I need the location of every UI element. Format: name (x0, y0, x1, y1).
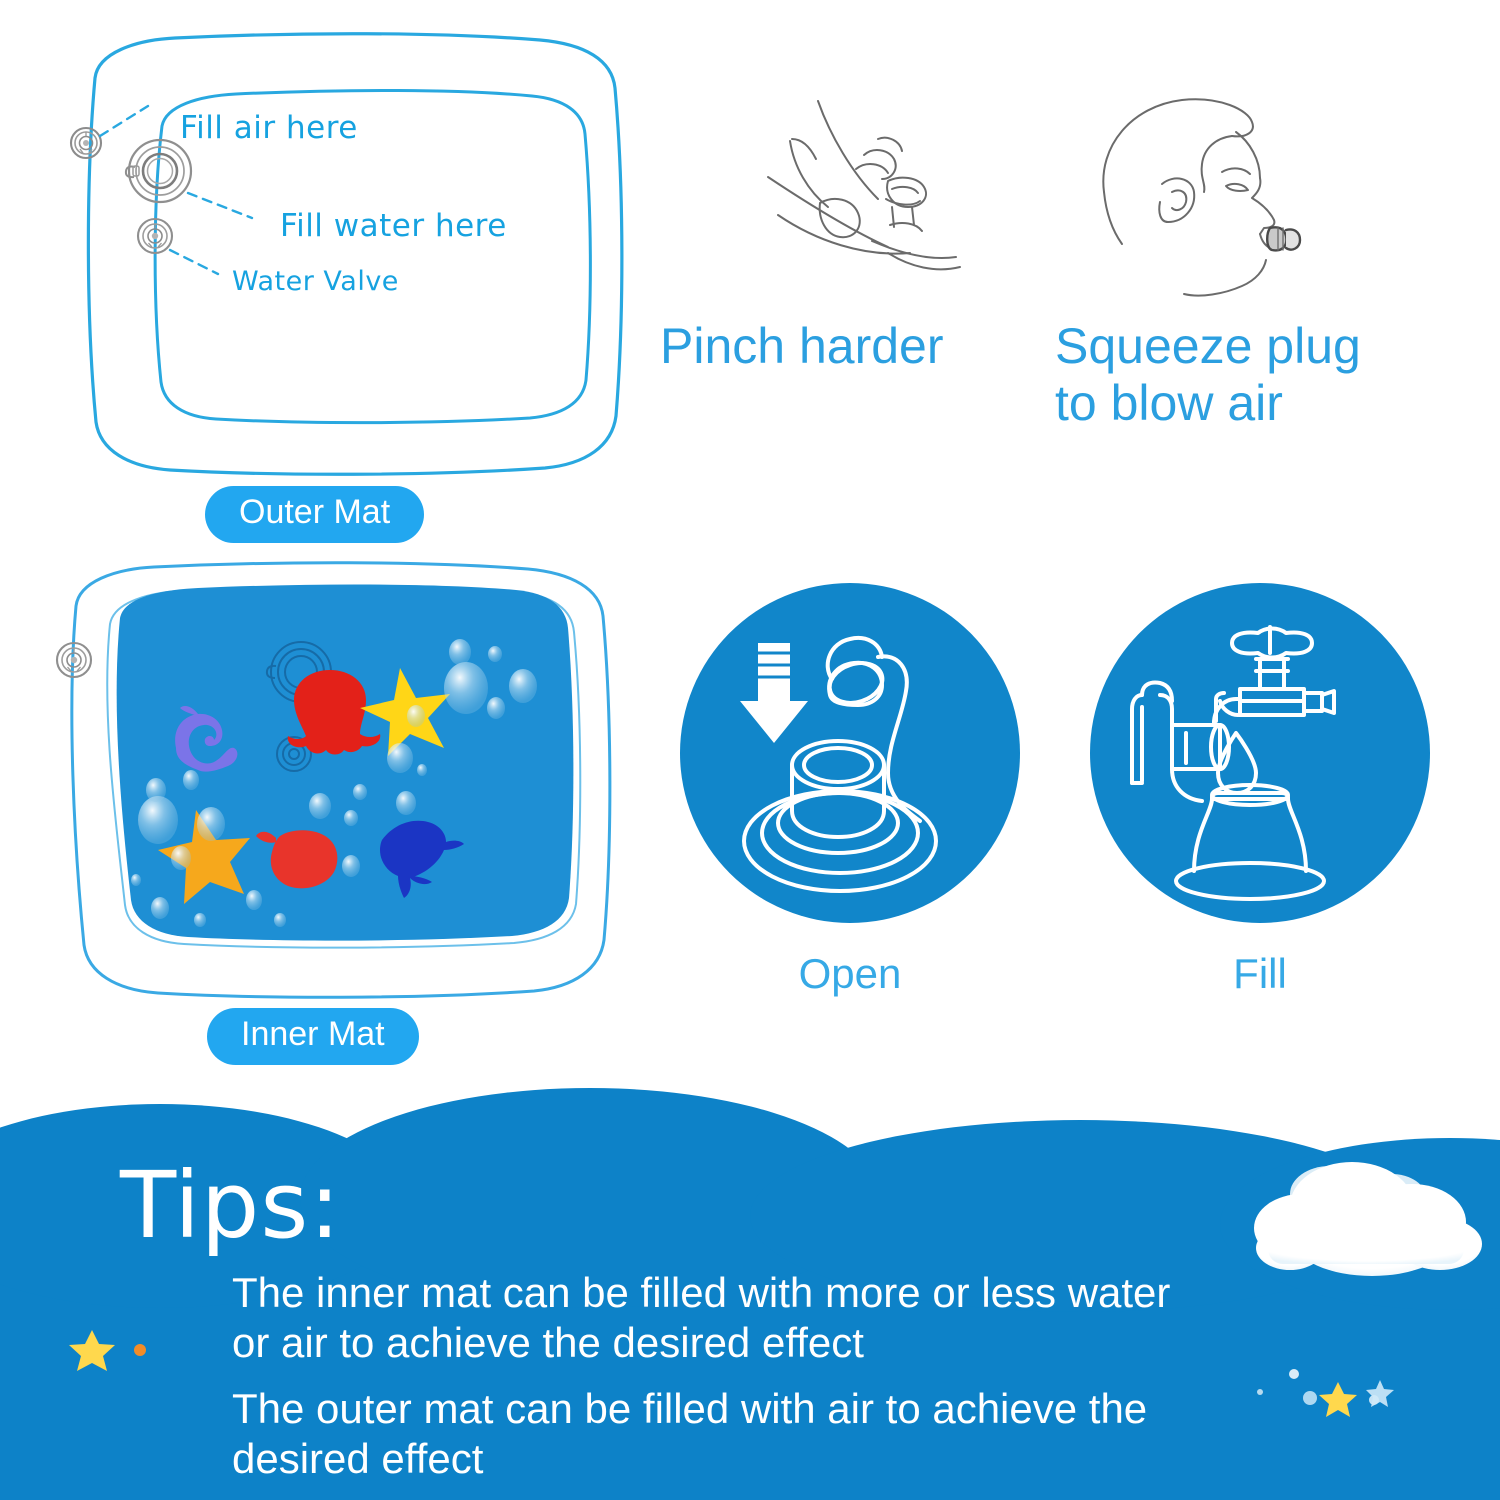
faucet-fill-drawing (1090, 583, 1430, 923)
down-arrow-icon (740, 643, 808, 743)
caption-fill: Fill (1090, 950, 1430, 998)
water-valve-icon (138, 219, 172, 253)
inner-mat-diagram (48, 548, 648, 1003)
callout-water-valve: Water Valve (232, 266, 399, 297)
inner-mat-air-valve-icon (57, 643, 91, 677)
leader-line-water (188, 193, 252, 218)
inner-mat-graphic (48, 548, 648, 1003)
air-valve-icon (71, 128, 101, 158)
caption-pinch-harder: Pinch harder (660, 318, 944, 375)
outer-mat-outline (40, 18, 650, 488)
step-open-illustration (680, 583, 1020, 923)
callout-fill-water: Fill water here (280, 208, 507, 244)
pinch-harder-sketch (760, 95, 1060, 310)
step-fill-illustration (1090, 583, 1430, 923)
squeeze-plug-sketch (1080, 88, 1380, 318)
tips-title: Tips: (120, 1152, 341, 1259)
pinch-fingers-drawing (760, 95, 1060, 310)
badge-inner-mat: Inner Mat (207, 1008, 419, 1065)
valve-open-drawing (680, 583, 1020, 923)
instruction-sheet: Fill air here Fill water here Water Valv… (0, 0, 1500, 1500)
tips-item: The inner mat can be filled with more or… (232, 1268, 1332, 1367)
caption-open: Open (680, 950, 1020, 998)
caption-squeeze-plug: Squeeze plug to blow air (1055, 318, 1361, 432)
leader-line-air (100, 106, 148, 136)
head-profile-drawing (1080, 88, 1380, 318)
leader-line-valve (170, 250, 218, 274)
outer-mat-diagram: Fill air here Fill water here Water Valv… (40, 18, 650, 488)
callout-fill-air: Fill air here (180, 110, 358, 146)
badge-outer-mat: Outer Mat (205, 486, 424, 543)
tips-item: The outer mat can be filled with air to … (232, 1384, 1332, 1483)
